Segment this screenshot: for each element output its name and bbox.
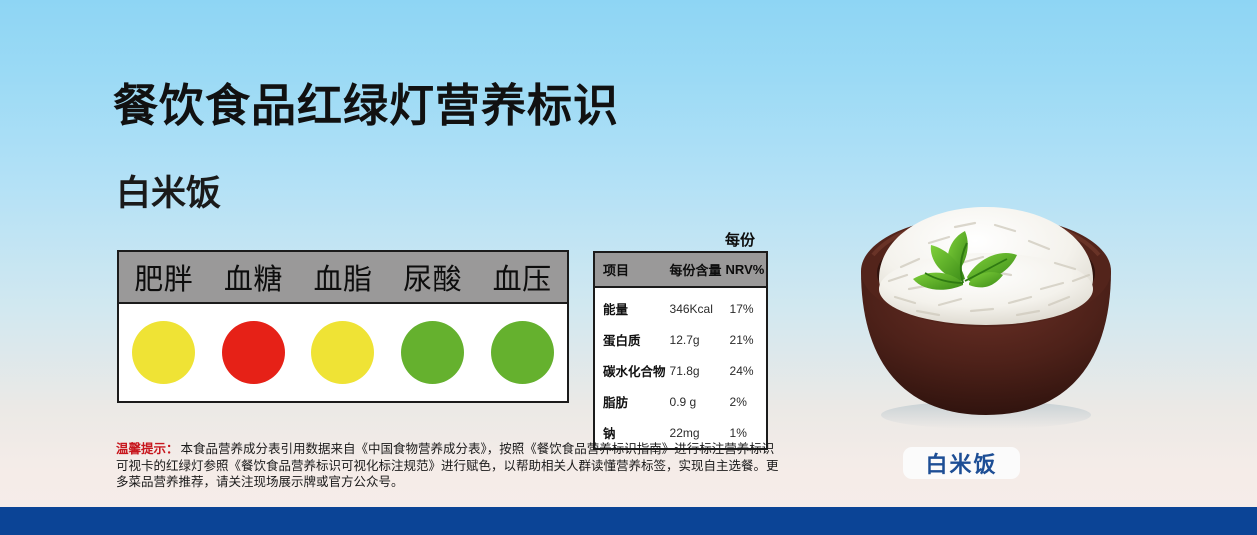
traffic-light-header-blood-lipid: 血脂 <box>298 252 388 302</box>
traffic-light-cell-blood-pressure <box>477 321 567 384</box>
nutrition-amount-fat: 0.9 g <box>668 386 724 417</box>
nutrition-header-nrv: NRV% <box>724 252 768 287</box>
nutrition-nrv-fat: 2% <box>724 386 768 417</box>
traffic-light-header-obesity: 肥胖 <box>119 252 209 302</box>
dish-name-heading: 白米饭 <box>116 165 221 216</box>
table-row: 碳水化合物 71.8g 24% <box>594 355 767 386</box>
traffic-light-cell-uric-acid <box>388 321 478 384</box>
dish-photo <box>843 193 1128 436</box>
traffic-light-dot-blood-sugar <box>222 321 285 384</box>
traffic-light-dot-uric-acid <box>401 321 464 384</box>
note-text: 本食品营养成分表引用数据来自《中国食物营养成分表》，按照《餐饮食品营养标识指南》… <box>116 441 779 489</box>
table-row: 蛋白质 12.7g 21% <box>594 324 767 355</box>
nutrition-item-energy: 能量 <box>594 287 668 324</box>
traffic-light-table: 肥胖 血糖 血脂 尿酸 血压 <box>117 250 569 403</box>
note-label: 温馨提示： <box>116 441 179 456</box>
nutrition-nrv-carbohydrate: 24% <box>724 355 768 386</box>
rice-bowl-image <box>843 193 1128 436</box>
traffic-light-dot-blood-lipid <box>311 321 374 384</box>
nutrition-amount-protein: 12.7g <box>668 324 724 355</box>
nutrition-nrv-protein: 21% <box>724 324 768 355</box>
traffic-light-header-blood-sugar: 血糖 <box>209 252 299 302</box>
disclaimer-note: 温馨提示：本食品营养成分表引用数据来自《中国食物营养成分表》，按照《餐饮食品营养… <box>116 441 786 491</box>
nutrition-item-protein: 蛋白质 <box>594 324 668 355</box>
nutrition-header-row: 项目 每份含量 NRV% <box>594 252 767 287</box>
traffic-light-cell-obesity <box>119 321 209 384</box>
nutrition-item-carbohydrate: 碳水化合物 <box>594 355 668 386</box>
nutrition-nrv-energy: 17% <box>724 287 768 324</box>
nutrition-item-fat: 脂肪 <box>594 386 668 417</box>
traffic-light-cell-blood-lipid <box>298 321 388 384</box>
traffic-light-header-row: 肥胖 血糖 血脂 尿酸 血压 <box>119 252 567 304</box>
traffic-light-cell-blood-sugar <box>209 321 299 384</box>
table-row: 能量 346Kcal 17% <box>594 287 767 324</box>
table-row: 脂肪 0.9 g 2% <box>594 386 767 417</box>
nutrition-header-amount: 每份含量 <box>668 252 724 287</box>
traffic-light-dot-blood-pressure <box>491 321 554 384</box>
nutrition-amount-carbohydrate: 71.8g <box>668 355 724 386</box>
traffic-light-dot-obesity <box>132 321 195 384</box>
traffic-light-header-uric-acid: 尿酸 <box>388 252 478 302</box>
page-title: 餐饮食品红绿灯营养标识 <box>113 69 619 134</box>
nutrition-amount-energy: 346Kcal <box>668 287 724 324</box>
nutrition-panel: 每份 项目 每份含量 NRV% 能量 346Kcal 17% 蛋白质 12.7g… <box>593 232 763 450</box>
bottom-accent-bar <box>0 507 1257 535</box>
nutrition-table-body: 能量 346Kcal 17% 蛋白质 12.7g 21% 碳水化合物 71.8g… <box>594 287 767 449</box>
dish-photo-badge: 白米饭 <box>903 447 1020 479</box>
nutrition-table: 项目 每份含量 NRV% 能量 346Kcal 17% 蛋白质 12.7g 21… <box>593 251 768 450</box>
per-serving-label: 每份 <box>593 232 763 249</box>
traffic-light-header-blood-pressure: 血压 <box>477 252 567 302</box>
nutrition-header-item: 项目 <box>594 252 668 287</box>
traffic-light-indicator-row <box>119 304 567 401</box>
